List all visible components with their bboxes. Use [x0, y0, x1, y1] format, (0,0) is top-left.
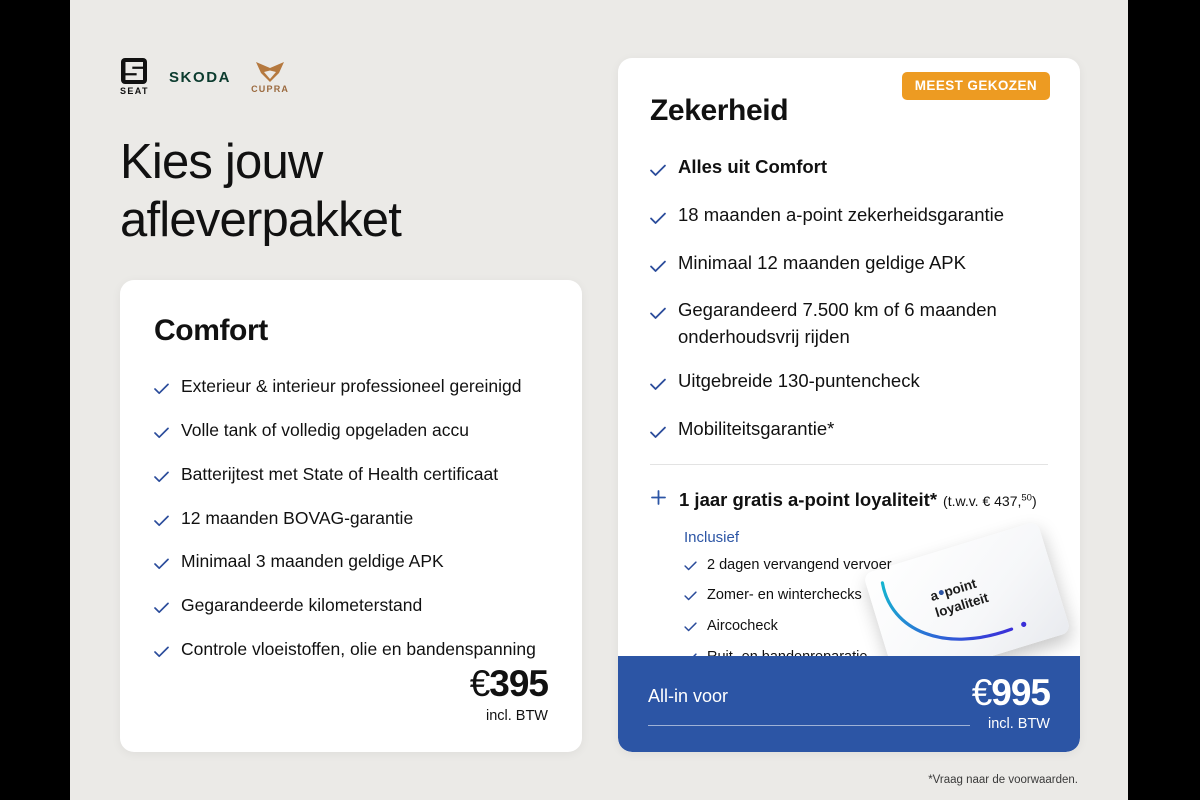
zekerheid-price-amount: €995 [972, 674, 1050, 711]
check-icon [650, 254, 666, 281]
cupra-mark-icon [255, 61, 285, 83]
skoda-logo-wordmark: SKODA [169, 69, 231, 86]
check-icon [684, 587, 697, 609]
list-item: Gegarandeerd 7.500 km of 6 maanden onder… [650, 297, 1048, 351]
check-icon [650, 206, 666, 233]
check-icon [154, 596, 169, 621]
comfort-feature-label: 12 maanden BOVAG-garantie [181, 506, 413, 531]
list-item: Exterieur & interieur professioneel gere… [154, 374, 548, 402]
bonus-value-cents: 50 [1021, 492, 1032, 503]
bonus-value-prefix: (t.w.v. € 437, [943, 493, 1021, 509]
page-title: Kies jouw afleverpakket [120, 134, 401, 250]
list-item: Volle tank of volledig opgeladen accu [154, 418, 548, 446]
list-item: Minimaal 12 maanden geldige APK [650, 250, 1048, 281]
package-card-comfort[interactable]: Comfort Exterieur & interieur profession… [120, 280, 582, 752]
section-divider [650, 464, 1048, 465]
check-icon [154, 377, 169, 402]
comfort-feature-list: Exterieur & interieur professioneel gere… [154, 374, 548, 665]
list-item: Controle vloeistoffen, olie en bandenspa… [154, 637, 548, 665]
comfort-feature-label: Exterieur & interieur professioneel gere… [181, 374, 521, 399]
zekerheid-feature-label: 18 maanden a-point zekerheidsgarantie [678, 202, 1004, 229]
check-icon [650, 420, 666, 447]
brand-logo-row: SEAT SKODA CUPRA [120, 58, 289, 96]
check-icon [154, 509, 169, 534]
check-icon [650, 301, 666, 328]
bonus-text-group: 1 jaar gratis a-point loyaliteit*(t.w.v.… [679, 489, 1037, 511]
comfort-feature-label: Controle vloeistoffen, olie en bandenspa… [181, 637, 536, 662]
zekerheid-feature-label: Uitgebreide 130-puntencheck [678, 368, 920, 395]
list-item: Minimaal 3 maanden geldige APK [154, 549, 548, 577]
list-item: Alles uit Comfort [650, 154, 1048, 185]
list-item: Aircocheck [684, 616, 1048, 640]
check-icon [650, 158, 666, 185]
footnote-text: *Vraag naar de voorwaarden. [928, 774, 1078, 786]
allin-label: All-in voor [648, 686, 728, 707]
currency-symbol: € [470, 663, 490, 704]
comfort-price-value: 395 [489, 663, 548, 704]
page-canvas: SEAT SKODA CUPRA Kies jouw afleverpakket… [70, 0, 1128, 800]
check-icon [684, 618, 697, 640]
list-item: Zomer- en winterchecks [684, 585, 1048, 609]
bonus-value: (t.w.v. € 437,50) [943, 493, 1037, 509]
currency-symbol: € [972, 672, 992, 713]
list-item: Batterijtest met State of Health certifi… [154, 462, 548, 490]
screenshot-stage: SEAT SKODA CUPRA Kies jouw afleverpakket… [0, 0, 1200, 800]
seat-logo: SEAT [120, 58, 149, 96]
zekerheid-vat-note: incl. BTW [988, 716, 1050, 732]
comfort-price-amount: €395 [470, 665, 548, 702]
zekerheid-feature-label: Alles uit Comfort [678, 154, 827, 181]
cupra-wordmark: CUPRA [251, 84, 289, 94]
list-item: Uitgebreide 130-puntencheck [650, 368, 1048, 399]
list-item: 18 maanden a-point zekerheidsgarantie [650, 202, 1048, 233]
check-icon [154, 552, 169, 577]
comfort-vat-note: incl. BTW [470, 708, 548, 724]
bonus-label: 1 jaar gratis a-point loyaliteit* [679, 489, 937, 510]
package-card-zekerheid[interactable]: MEEST GEKOZEN Zekerheid Alles uit Comfor… [618, 58, 1080, 752]
check-icon [154, 640, 169, 665]
zekerheid-price-value: 995 [991, 672, 1050, 713]
bonus-row: 1 jaar gratis a-point loyaliteit*(t.w.v.… [650, 487, 1048, 511]
price-rule [648, 725, 970, 726]
inclusief-item-label: Aircocheck [707, 616, 778, 638]
bonus-value-suffix: ) [1032, 493, 1037, 509]
comfort-feature-label: Volle tank of volledig opgeladen accu [181, 418, 469, 443]
comfort-price-block: €395 incl. BTW [470, 665, 548, 724]
inclusief-item-label: Zomer- en winterchecks [707, 585, 862, 607]
check-icon [154, 421, 169, 446]
zekerheid-feature-label: Minimaal 12 maanden geldige APK [678, 250, 966, 277]
list-item: Gegarandeerde kilometerstand [154, 593, 548, 621]
comfort-feature-label: Minimaal 3 maanden geldige APK [181, 549, 444, 574]
inclusief-item-label: 2 dagen vervangend vervoer [707, 555, 892, 577]
comfort-title: Comfort [154, 314, 548, 348]
list-item: 12 maanden BOVAG-garantie [154, 506, 548, 534]
status-badge-meest-gekozen: MEEST GEKOZEN [902, 72, 1050, 100]
check-icon [154, 465, 169, 490]
seat-wordmark: SEAT [120, 86, 149, 96]
comfort-feature-label: Batterijtest met State of Health certifi… [181, 462, 498, 487]
zekerheid-price-bar: All-in voor €995 incl. BTW [618, 656, 1080, 752]
zekerheid-feature-label: Mobiliteitsgarantie* [678, 416, 834, 443]
zekerheid-feature-label: Gegarandeerd 7.500 km of 6 maanden onder… [678, 297, 1048, 351]
check-icon [650, 372, 666, 399]
zekerheid-feature-list: Alles uit Comfort 18 maanden a-point zek… [650, 154, 1048, 447]
comfort-feature-label: Gegarandeerde kilometerstand [181, 593, 422, 618]
check-icon [684, 557, 697, 579]
plus-icon [650, 489, 667, 511]
inclusief-list: 2 dagen vervangend vervoer Zomer- en win… [684, 555, 1048, 671]
list-item: Mobiliteitsgarantie* [650, 416, 1048, 447]
cupra-logo: CUPRA [251, 61, 289, 94]
seat-mark-icon [121, 58, 147, 84]
list-item: 2 dagen vervangend vervoer [684, 555, 1048, 579]
